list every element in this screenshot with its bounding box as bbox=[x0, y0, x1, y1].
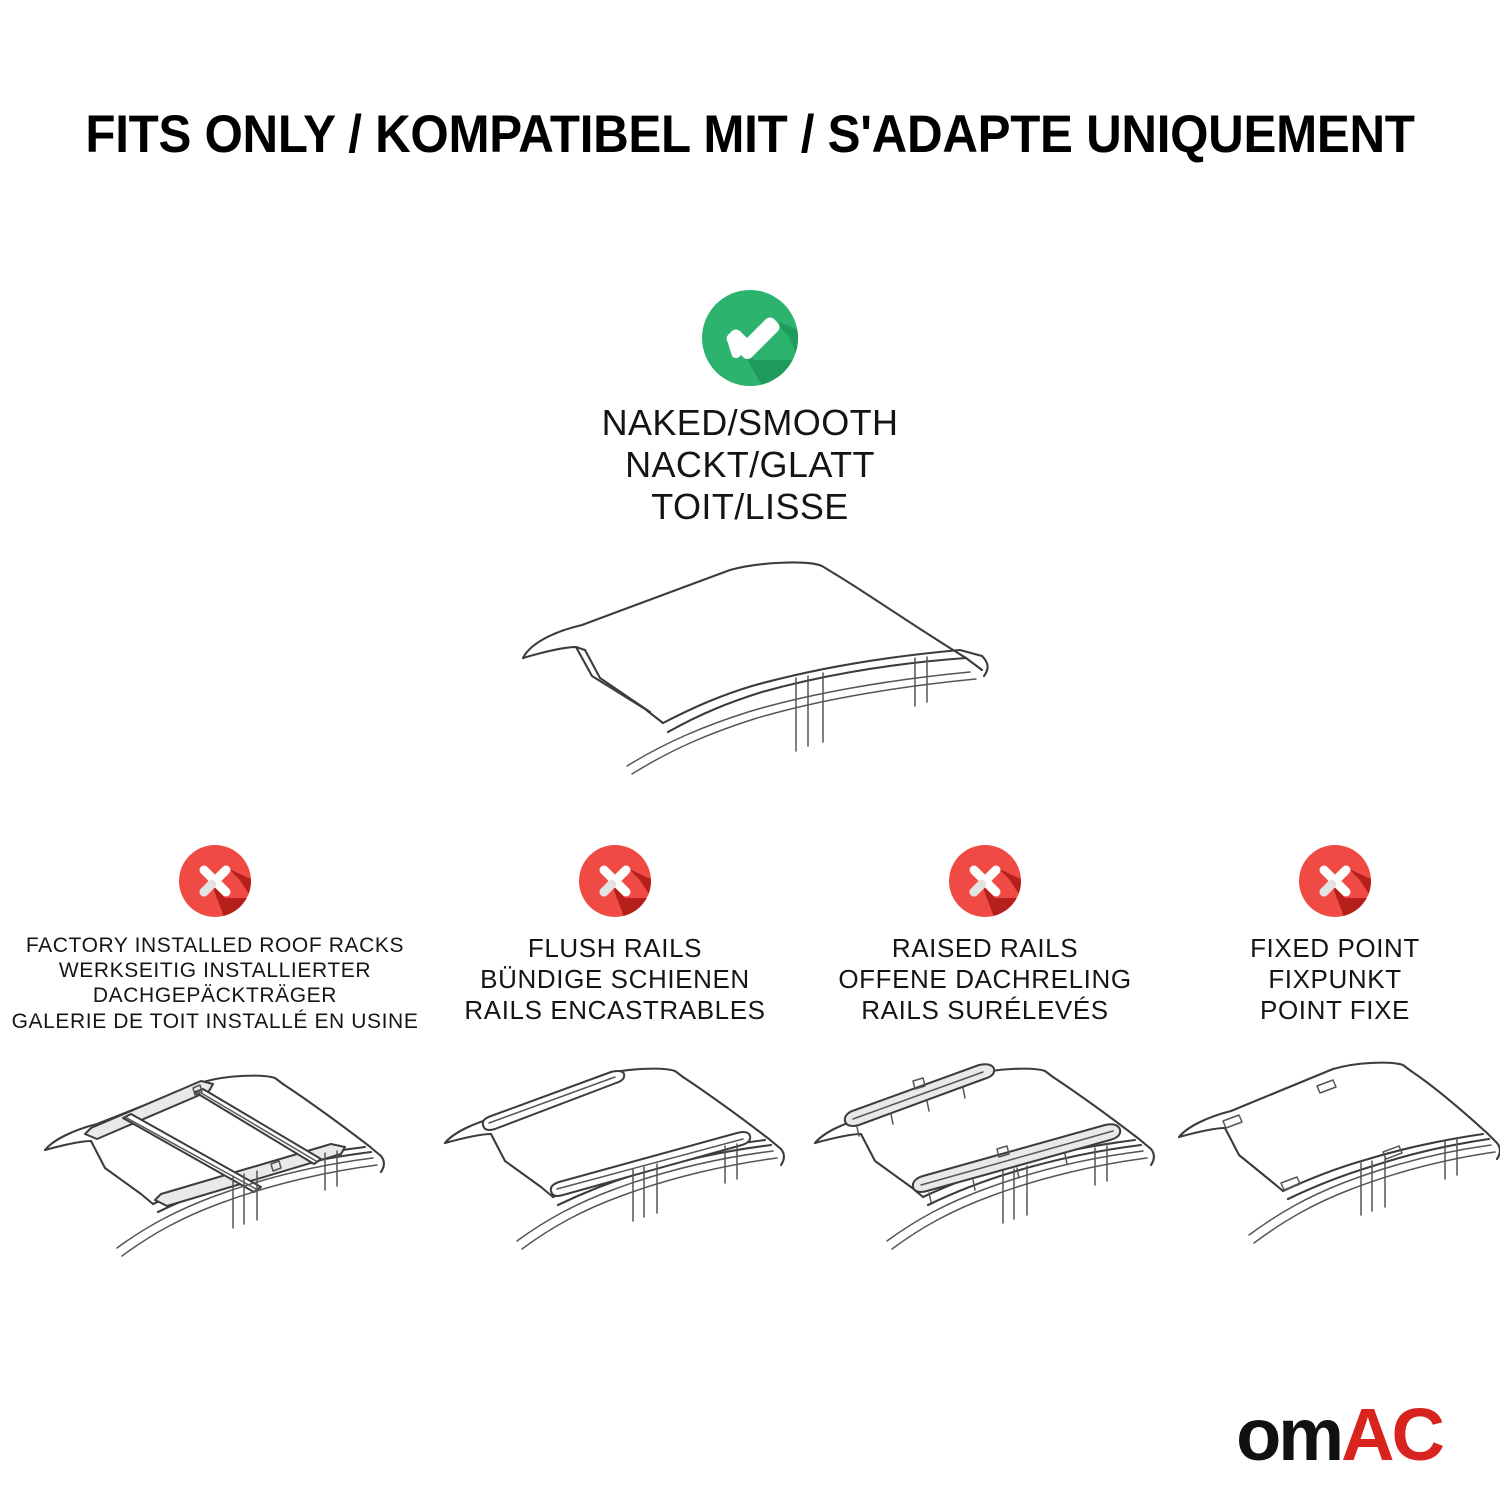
logo-text-dark: om bbox=[1236, 1398, 1341, 1472]
check-mark-glyph bbox=[702, 290, 798, 386]
check-circle-icon bbox=[702, 290, 798, 386]
flush-rails-illustration bbox=[425, 1041, 805, 1271]
x-circle-icon bbox=[1299, 845, 1371, 917]
compatible-caption-line-3: TOIT/LISSE bbox=[602, 486, 899, 528]
x-mark-glyph bbox=[1299, 845, 1371, 917]
omac-logo: omAC bbox=[1236, 1398, 1442, 1472]
incompatible-item-raised-rails: RAISED RAILS OFFENE DACHRELING RAILS SUR… bbox=[800, 845, 1170, 1271]
caption-line-1: FIXED POINT bbox=[1250, 933, 1420, 964]
x-mark-glyph bbox=[579, 845, 651, 917]
incompatible-caption: FLUSH RAILS BÜNDIGE SCHIENEN RAILS ENCAS… bbox=[464, 933, 765, 1027]
logo-text-accent: AC bbox=[1341, 1398, 1442, 1472]
caption-line-1: RAISED RAILS bbox=[838, 933, 1131, 964]
caption-line-3: RAILS SURÉLEVÉS bbox=[838, 995, 1131, 1026]
caption-line-1: FLUSH RAILS bbox=[464, 933, 765, 964]
x-mark-glyph bbox=[949, 845, 1021, 917]
caption-line-3: POINT FIXE bbox=[1250, 995, 1420, 1026]
raised-rails-illustration bbox=[795, 1041, 1175, 1271]
incompatible-caption: FACTORY INSTALLED ROOF RACKS WERKSEITIG … bbox=[12, 933, 419, 1034]
compatible-caption-line-1: NAKED/SMOOTH bbox=[602, 402, 899, 444]
caption-line-2: BÜNDIGE SCHIENEN bbox=[464, 964, 765, 995]
incompatible-item-flush-rails: FLUSH RAILS BÜNDIGE SCHIENEN RAILS ENCAS… bbox=[430, 845, 800, 1271]
naked-smooth-roof-illustration bbox=[490, 546, 1010, 806]
page-title: FITS ONLY / KOMPATIBEL MIT / S'ADAPTE UN… bbox=[53, 104, 1448, 165]
compatible-caption: NAKED/SMOOTH NACKT/GLATT TOIT/LISSE bbox=[602, 402, 899, 528]
caption-line-3: RAILS ENCASTRABLES bbox=[464, 995, 765, 1026]
factory-roof-rack-illustration bbox=[25, 1048, 405, 1278]
caption-line-4: GALERIE DE TOIT INSTALLÉ EN USINE bbox=[12, 1009, 419, 1034]
incompatible-section: FACTORY INSTALLED ROOF RACKS WERKSEITIG … bbox=[0, 845, 1500, 1278]
caption-line-2: OFFENE DACHRELING bbox=[838, 964, 1131, 995]
caption-line-1: FACTORY INSTALLED ROOF RACKS bbox=[12, 933, 419, 958]
x-circle-icon bbox=[179, 845, 251, 917]
caption-line-3: DACHGEPÄCKTRÄGER bbox=[12, 983, 419, 1008]
caption-line-2: FIXPUNKT bbox=[1250, 964, 1420, 995]
compatible-caption-line-2: NACKT/GLATT bbox=[602, 444, 899, 486]
compatible-section: NAKED/SMOOTH NACKT/GLATT TOIT/LISSE bbox=[0, 290, 1500, 806]
incompatible-caption: FIXED POINT FIXPUNKT POINT FIXE bbox=[1250, 933, 1420, 1027]
x-circle-icon bbox=[579, 845, 651, 917]
x-mark-glyph bbox=[179, 845, 251, 917]
caption-line-2: WERKSEITIG INSTALLIERTER bbox=[12, 958, 419, 983]
incompatible-item-fixed-point: FIXED POINT FIXPUNKT POINT FIXE bbox=[1170, 845, 1500, 1271]
incompatible-caption: RAISED RAILS OFFENE DACHRELING RAILS SUR… bbox=[838, 933, 1131, 1027]
x-circle-icon bbox=[949, 845, 1021, 917]
incompatible-item-factory-installed-roof-racks: FACTORY INSTALLED ROOF RACKS WERKSEITIG … bbox=[0, 845, 430, 1278]
fixed-point-illustration bbox=[1165, 1041, 1500, 1271]
